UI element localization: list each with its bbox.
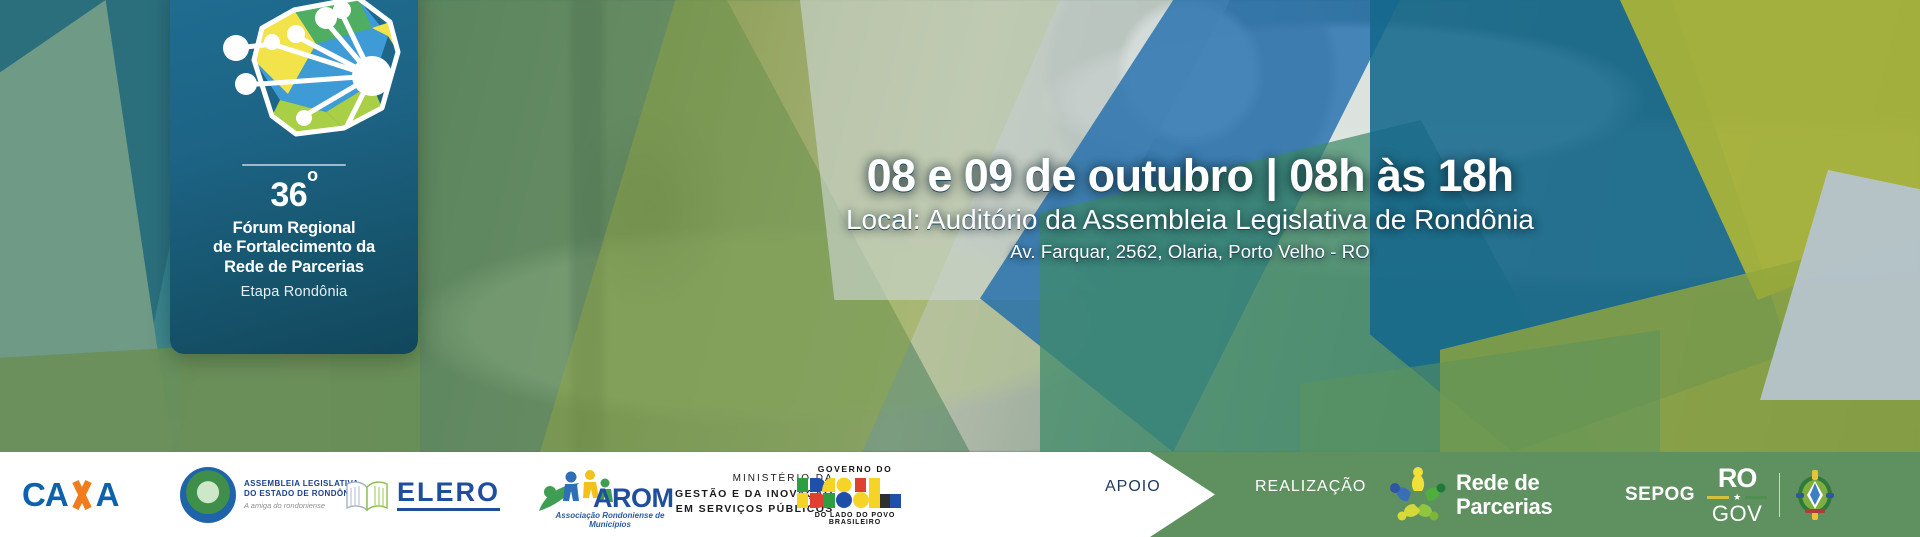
card-subtitle: Etapa Rondônia [170, 284, 418, 300]
rogov-wordmark: RO ★ GOV [1707, 465, 1767, 525]
rede-line-1: Rede de [1456, 471, 1552, 494]
event-date-time: 08 e 09 de outubro | 08h às 18h [690, 152, 1690, 200]
governo-top-text: GOVERNO DO [795, 464, 915, 474]
network-people-ring-icon [1390, 467, 1446, 523]
caixa-wordmark: CAA [22, 476, 119, 514]
open-book-icon [345, 478, 389, 512]
card-divider [242, 164, 346, 166]
caixa-text-head: CA [22, 476, 68, 514]
assembleia-line-3: A amiga do rondoniense [244, 501, 359, 510]
rogov-ro: RO [1707, 465, 1767, 492]
rogov-bar-green [1745, 496, 1767, 499]
logo-assembleia-legislativa[interactable]: ASSEMBLEIA LEGISLATIVA DO ESTADO DE ROND… [180, 452, 359, 537]
assembleia-seal-icon [180, 467, 236, 523]
card-title-line-1: Fórum Regional [178, 219, 410, 238]
caixa-x-icon [69, 482, 95, 508]
hero-section: 36o Fórum Regional de Fortalecimento da … [0, 0, 1920, 452]
elero-wordmark: ELERO [397, 478, 500, 510]
rede-line-2: Parcerias [1456, 495, 1552, 518]
card-title: Fórum Regional de Fortalecimento da Rede… [170, 219, 418, 277]
edition-ordinal: o [307, 165, 318, 185]
apoio-label: APOIO [1105, 478, 1161, 496]
card-title-line-2: de Fortalecimento da [178, 238, 410, 257]
governo-bottom-text: DO LADO DO POVO BRASILEIRO [795, 512, 915, 526]
logo-elero[interactable]: ELERO [345, 452, 500, 537]
rogov-bar-yellow [1707, 496, 1729, 499]
brasil-mark-icon [795, 476, 915, 510]
caixa-text-tail: A [96, 476, 119, 514]
sponsor-logo-bar: APOIO REALIZAÇÃO CAA ASSEMBLEIA LEGISLAT… [0, 452, 1920, 537]
event-venue: Local: Auditório da Assembleia Legislati… [690, 204, 1690, 236]
logo-rede-de-parcerias[interactable]: Rede de Parcerias [1390, 452, 1552, 537]
realizacao-label: REALIZAÇÃO [1255, 478, 1366, 496]
sepog-wordmark: SEPOG [1625, 484, 1695, 506]
assembleia-line-2: DO ESTADO DE RONDÔNIA [244, 489, 359, 499]
assembleia-text: ASSEMBLEIA LEGISLATIVA DO ESTADO DE ROND… [244, 479, 359, 509]
rogov-gov: GOV [1707, 503, 1767, 525]
event-address: Av. Farquar, 2562, Olaria, Porto Velho -… [690, 241, 1690, 263]
arom-wordmark: AROM [593, 483, 674, 514]
card-title-line-3: Rede de Parcerias [178, 258, 410, 277]
logo-arom[interactable]: AROM Associação Rondoniense de Município… [535, 452, 685, 537]
edition-number: 36o [170, 178, 418, 212]
arom-subtitle: Associação Rondoniense de Municípios [535, 511, 685, 529]
logo-governo-do-brasil[interactable]: GOVERNO DO [795, 452, 915, 537]
rede-wordmark: Rede de Parcerias [1456, 471, 1552, 517]
event-identity-card: 36o Fórum Regional de Fortalecimento da … [170, 0, 418, 354]
assembleia-line-1: ASSEMBLEIA LEGISLATIVA [244, 479, 359, 489]
logo-sepog-rogov[interactable]: SEPOG RO ★ GOV [1625, 452, 1838, 537]
rondonia-coat-of-arms-icon [1792, 469, 1838, 521]
edition-number-value: 36 [270, 176, 307, 214]
event-banner: 36o Fórum Regional de Fortalecimento da … [0, 0, 1920, 537]
sepog-divider [1779, 473, 1780, 517]
hero-text-block: 08 e 09 de outubro | 08h às 18h Local: A… [690, 152, 1690, 263]
logo-caixa[interactable]: CAA [22, 452, 119, 537]
network-map-icon [170, 0, 418, 158]
